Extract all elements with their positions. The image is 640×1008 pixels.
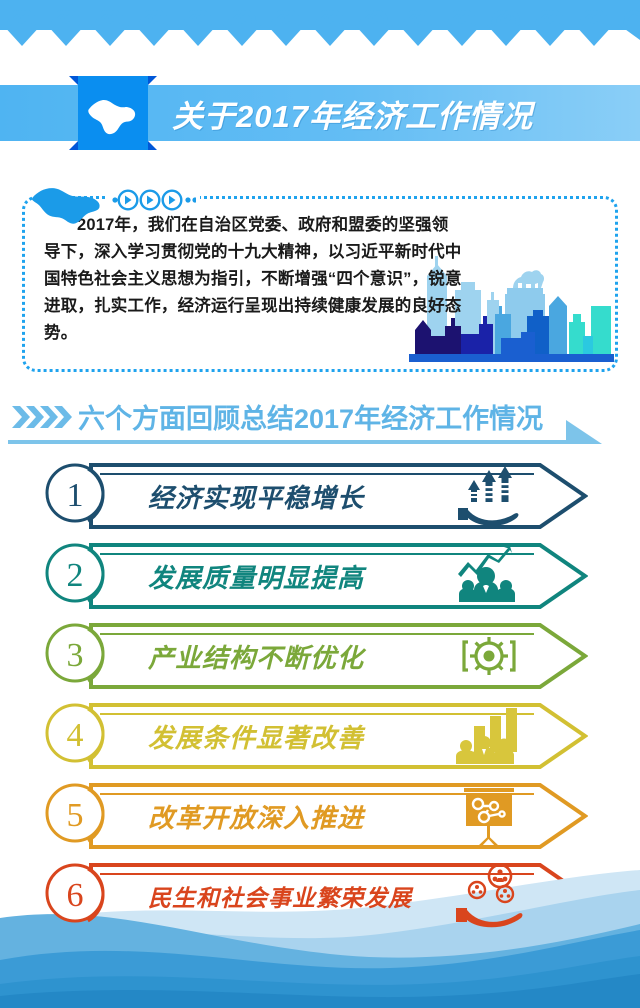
hand-people-group-icon: [452, 864, 526, 928]
item-number-badge: 6: [42, 860, 114, 932]
item-number: 6: [67, 877, 84, 914]
item-label: 经济实现平稳增长: [148, 462, 364, 530]
item-label: 发展条件显著改善: [148, 702, 364, 770]
intro-paragraph: 2017年，我们在自治区党委、政府和盟委的坚强领导下，深入学习贯彻党的十九大精神…: [44, 212, 464, 347]
inner-mongolia-map-icon: [84, 84, 142, 142]
section-heading-text: 六个方面回顾总结2017年经济工作情况: [78, 396, 543, 436]
item-number: 4: [67, 717, 84, 754]
item-number: 2: [67, 557, 84, 594]
section-underline: [8, 440, 572, 444]
list-item[interactable]: 4 发展条件显著改善: [0, 696, 640, 776]
item-label: 产业结构不断优化: [148, 622, 364, 690]
inner-mongolia-map-icon: [30, 182, 104, 226]
quad-chevron-icon: [10, 400, 72, 434]
item-number-badge: 4: [42, 700, 114, 772]
item-number-badge: 3: [42, 620, 114, 692]
item-number-badge: 5: [42, 780, 114, 852]
item-number-badge: 1: [42, 460, 114, 532]
list-item[interactable]: 1 经济实现平稳增长: [0, 456, 640, 536]
list-item[interactable]: 5 改革开放深入推进: [0, 776, 640, 856]
presentation-board-icon: [452, 784, 526, 848]
item-number: 3: [67, 637, 84, 674]
list-item[interactable]: 2 发展质量明显提高: [0, 536, 640, 616]
page-title: 关于2017年经济工作情况: [172, 85, 533, 141]
item-list: 1 经济实现平稳增长: [0, 456, 640, 936]
item-label: 改革开放深入推进: [148, 782, 364, 850]
item-number: 5: [67, 797, 84, 834]
title-map-badge: [78, 76, 148, 150]
hand-rising-arrows-icon: [452, 464, 526, 528]
bar-chart-people-icon: [452, 704, 526, 768]
people-growth-chart-icon: [452, 544, 526, 608]
list-item[interactable]: 3 产业结构不断优化: [0, 616, 640, 696]
item-label: 发展质量明显提高: [148, 542, 364, 610]
infographic-page: 关于2017年经济工作情况 2017年，我们在自治区党委、政府和盟委的坚强领导下…: [0, 0, 640, 1008]
cloud-swirl-pattern: [0, 0, 640, 62]
gear-target-icon: [452, 624, 526, 688]
item-number: 1: [67, 477, 84, 514]
section-arrow-tip: [566, 420, 602, 444]
section-heading: 六个方面回顾总结2017年经济工作情况: [0, 396, 640, 448]
triple-chevron-circle-icon: [108, 188, 200, 212]
item-label: 民生和社会事业繁荣发展: [148, 862, 412, 930]
item-number-badge: 2: [42, 540, 114, 612]
